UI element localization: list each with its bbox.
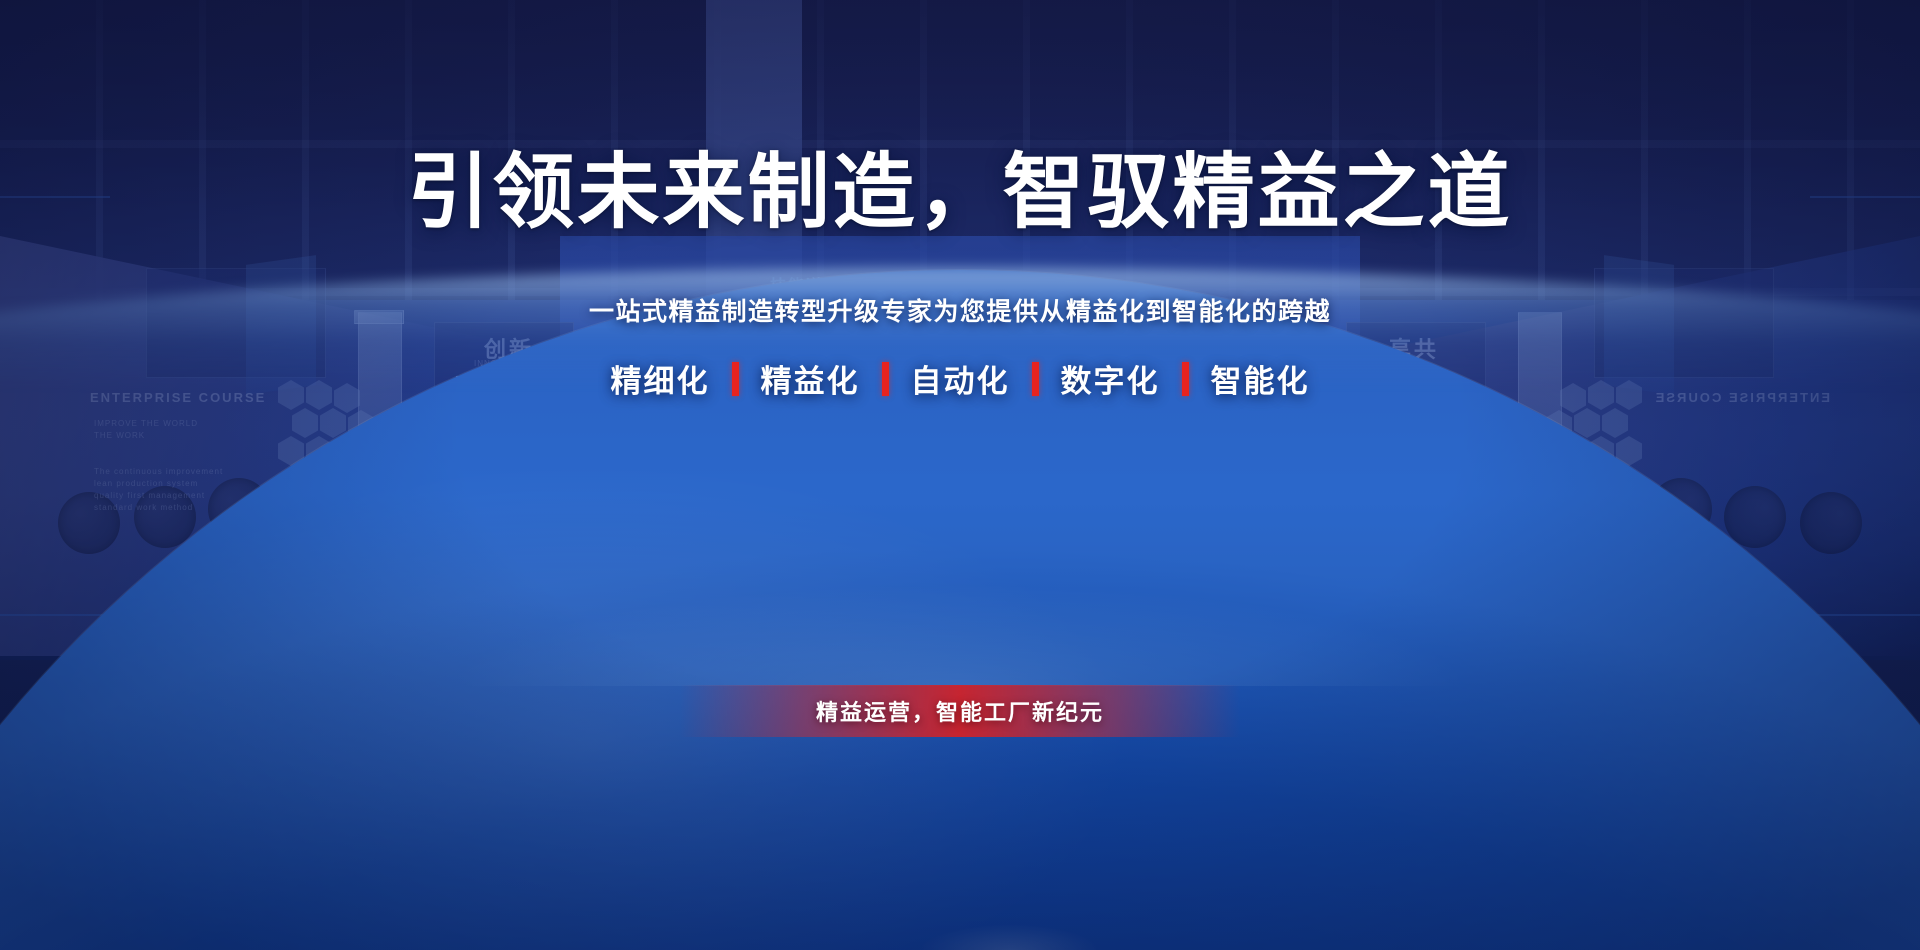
banner-subtitle: 一站式精益制造转型升级专家为您提供从精益化到智能化的跨越 xyxy=(589,292,1331,328)
keyword-list: 精细化 精益化 自动化 数字化 智能化 xyxy=(589,356,1332,401)
keyword-item: 自动化 xyxy=(889,356,1032,401)
keyword-item: 精益化 xyxy=(739,356,882,401)
keyword-item: 数字化 xyxy=(1039,356,1182,401)
keyword-item: 智能化 xyxy=(1189,356,1332,401)
page-title: 引领未来制造，智驭精益之道 xyxy=(407,152,1512,234)
banner-content: 引领未来制造，智驭精益之道 一站式精益制造转型升级专家为您提供从精益化到智能化的… xyxy=(0,0,1920,950)
keyword-separator-icon xyxy=(1032,362,1039,396)
banner-stage: 技能道场 SKILL DOJO 质量反省 QUALITY REFLECTION xyxy=(0,0,1920,950)
tagline-banner: 精益运营，智能工厂新纪元 xyxy=(680,685,1240,737)
keyword-separator-icon xyxy=(732,362,739,396)
keyword-item: 精细化 xyxy=(589,356,732,401)
keyword-separator-icon xyxy=(1182,362,1189,396)
keyword-separator-icon xyxy=(882,362,889,396)
tagline-text: 精益运营，智能工厂新纪元 xyxy=(816,695,1104,727)
